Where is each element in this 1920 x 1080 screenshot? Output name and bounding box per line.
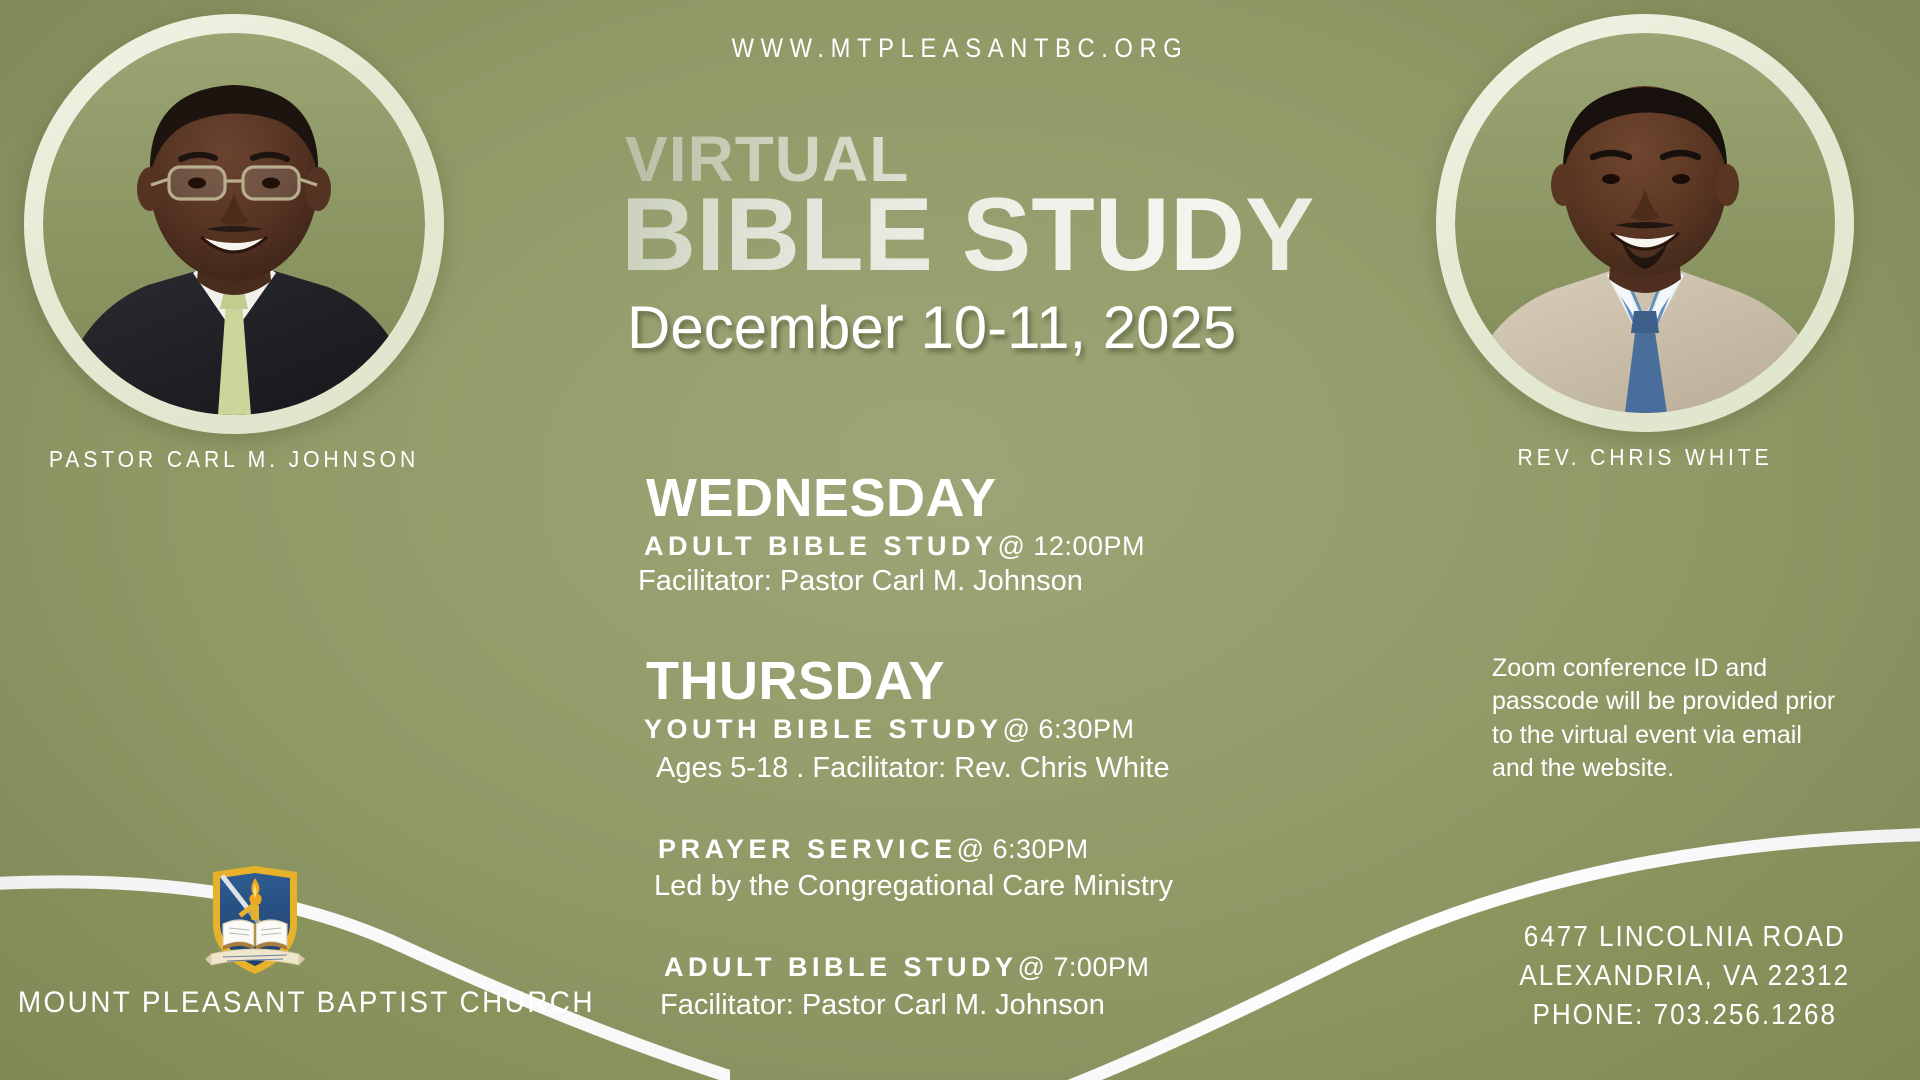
event-title-thu-youth: YOUTH BIBLE STUDY <box>644 714 1003 744</box>
event-detail-wed-adult: Facilitator: Pastor Carl M. Johnson <box>638 563 1352 601</box>
event-detail-thu-adult: Facilitator: Pastor Carl M. Johnson <box>660 987 1352 1025</box>
speaker-left-caption: PASTOR CARL M. JOHNSON <box>41 446 427 473</box>
flyer-canvas: WWW.MTPLEASANTBC.ORG <box>0 0 1920 1080</box>
event-line-thu-prayer: PRAYER SERVICE@ 6:30PM <box>658 832 1352 867</box>
event-detail-thu-youth: Ages 5-18 . Facilitator: Rev. Chris Whit… <box>656 750 1352 788</box>
headline-bible-study: BIBLE STUDY <box>621 183 1385 287</box>
portrait-photo-left <box>43 33 425 415</box>
zoom-conference-note: Zoom conference ID and passcode will be … <box>1492 652 1837 785</box>
event-line-wed-adult: ADULT BIBLE STUDY@ 12:00PM <box>644 529 1352 564</box>
event-time-thu-prayer: @ 6:30PM <box>957 834 1089 864</box>
portrait-photo-right <box>1455 33 1835 413</box>
schedule-group: WEDNESDAY ADULT BIBLE STUDY@ 12:00PM Fac… <box>632 470 1352 1024</box>
church-address-block: 6477 LINCOLNIA ROAD ALEXANDRIA, VA 22312… <box>1501 918 1868 1035</box>
speaker-right-portrait: REV. CHRIS WHITE <box>1436 14 1854 471</box>
church-name: MOUNT PLEASANT BAPTIST CHURCH <box>18 986 492 1020</box>
event-title-thu-adult: ADULT BIBLE STUDY <box>664 952 1018 982</box>
day-heading-wednesday: WEDNESDAY <box>646 470 1352 527</box>
speaker-right-caption: REV. CHRIS WHITE <box>1453 444 1838 471</box>
event-title-thu-prayer: PRAYER SERVICE <box>658 834 957 864</box>
portrait-ring-right <box>1436 14 1854 432</box>
address-street: 6477 LINCOLNIA ROAD <box>1519 918 1850 957</box>
address-phone[interactable]: PHONE: 703.256.1268 <box>1519 996 1850 1035</box>
event-detail-thu-prayer: Led by the Congregational Care Ministry <box>654 868 1352 906</box>
day-heading-thursday: THURSDAY <box>646 653 1352 710</box>
event-title-wed-adult: ADULT BIBLE STUDY <box>644 531 998 561</box>
portrait-ring-left <box>24 14 444 434</box>
church-identity-block: MOUNT PLEASANT BAPTIST CHURCH <box>0 862 510 1020</box>
headline-group: VIRTUAL BIBLE STUDY December 10-11, 2025 <box>625 130 1385 362</box>
event-time-thu-youth: @ 6:30PM <box>1003 714 1135 744</box>
event-time-thu-adult: @ 7:00PM <box>1018 952 1150 982</box>
event-date: December 10-11, 2025 <box>627 293 1385 362</box>
speaker-left-portrait: PASTOR CARL M. JOHNSON <box>24 14 444 473</box>
address-city-state-zip: ALEXANDRIA, VA 22312 <box>1519 957 1850 996</box>
church-shield-icon <box>203 862 307 978</box>
event-time-wed-adult: @ 12:00PM <box>998 531 1145 561</box>
event-line-thu-adult: ADULT BIBLE STUDY@ 7:00PM <box>664 950 1352 985</box>
event-line-thu-youth: YOUTH BIBLE STUDY@ 6:30PM <box>644 712 1352 747</box>
